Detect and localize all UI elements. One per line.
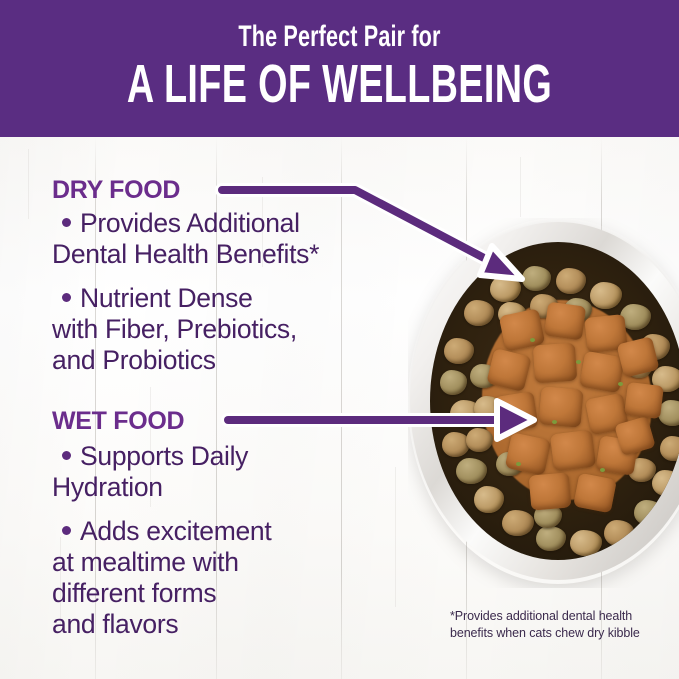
dry-food-bullet-list: Provides Additional Dental Health Benefi… (52, 208, 382, 376)
wet-food-bullet-list: Supports Daily Hydration Adds excitement… (52, 441, 382, 639)
bullet-dot-icon (62, 526, 71, 535)
list-item: Adds excitement at mealtime with differe… (52, 516, 382, 639)
bullet-dot-icon (62, 451, 71, 460)
promo-graphic: The Perfect Pair for A LIFE OF WELLBEING (0, 0, 679, 679)
bullet-text-line: different forms (52, 578, 216, 608)
list-item: Nutrient Dense with Fiber, Prebiotics, a… (52, 283, 382, 375)
bullet-text-line: and flavors (52, 609, 178, 639)
bullet-text-line: Nutrient Dense (80, 283, 253, 313)
footnote-disclaimer: *Provides additional dental health benef… (450, 608, 665, 641)
bullet-text-line: Dental Health Benefits* (52, 239, 319, 269)
header-subtitle: The Perfect Pair for (95, 22, 584, 52)
bowl-outer (408, 218, 679, 584)
bullet-text-line: and Probiotics (52, 345, 216, 375)
bullet-text-line: Provides Additional (80, 208, 300, 238)
bullet-text-line: Supports Daily (80, 441, 248, 471)
dry-food-heading: DRY FOOD (52, 178, 180, 203)
bullet-dot-icon (62, 293, 71, 302)
wet-food-heading: WET FOOD (52, 409, 184, 434)
bullet-text-line: at mealtime with (52, 547, 239, 577)
bullet-text-line: with Fiber, Prebiotics, (52, 314, 297, 344)
bullet-text-line: Adds excitement (80, 516, 271, 546)
bowl-contents (430, 242, 679, 560)
bullet-dot-icon (62, 218, 71, 227)
food-bowl-image (408, 218, 679, 588)
list-item: Supports Daily Hydration (52, 441, 382, 502)
bullet-text-line: Hydration (52, 472, 163, 502)
list-item: Provides Additional Dental Health Benefi… (52, 208, 382, 269)
header-banner: The Perfect Pair for A LIFE OF WELLBEING (0, 0, 679, 137)
page-title: A LIFE OF WELLBEING (102, 57, 577, 111)
